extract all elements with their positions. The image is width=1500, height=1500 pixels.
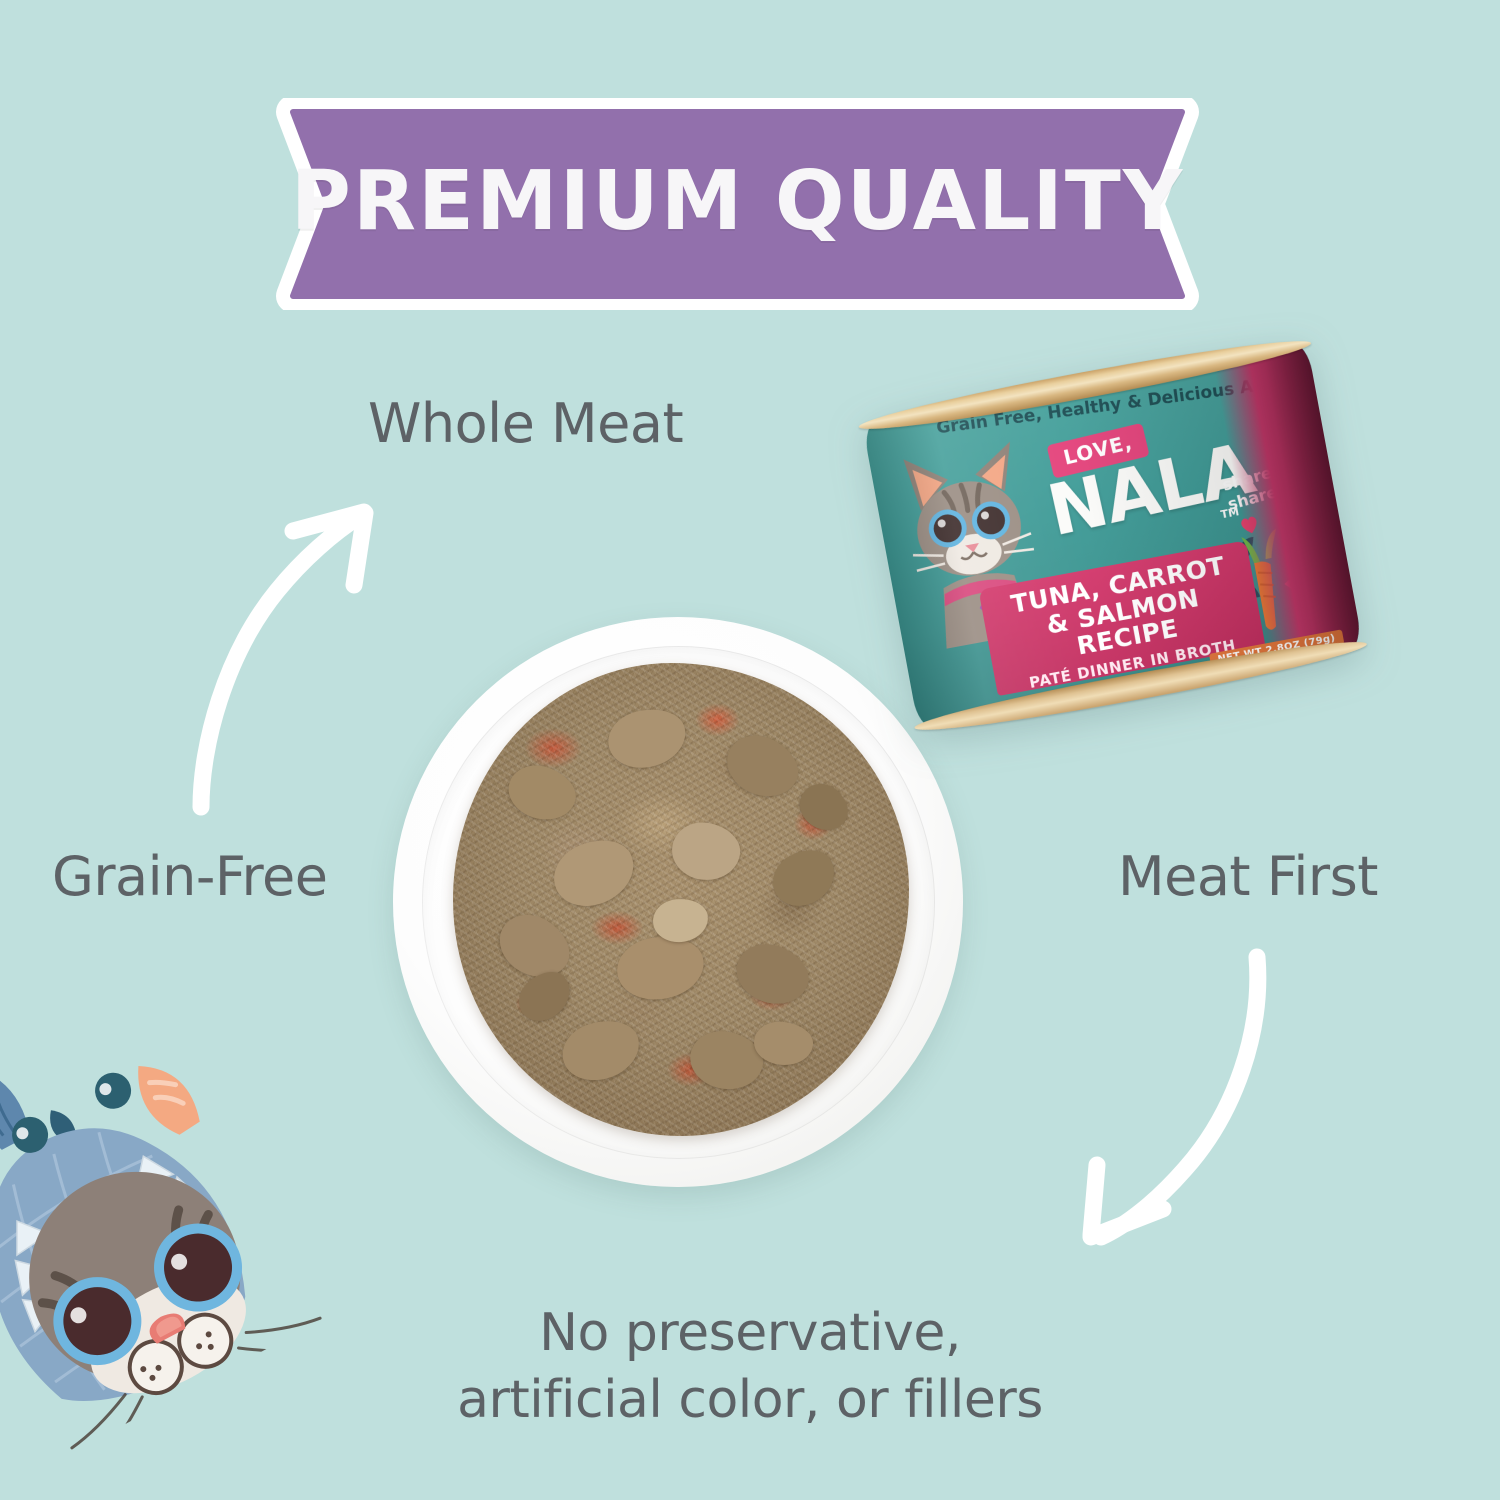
banner-title: PREMIUM QUALITY [275,98,1200,310]
food-plate [393,617,963,1187]
food-chunks [453,663,909,1136]
no-preservative-line-2: artificial color, or fillers [0,1367,1500,1434]
premium-quality-banner: PREMIUM QUALITY [275,98,1200,310]
curved-arrow-up-right-icon [165,495,415,825]
food-texture [453,663,909,1136]
feature-label-meat-first: Meat First [1118,845,1378,908]
feature-label-whole-meat: Whole Meat [368,392,683,455]
curved-arrow-down-left-icon [1045,935,1305,1265]
poster-canvas: PREMIUM QUALITY Whole Meat Grain-Free Me… [0,0,1500,1500]
pate-food [453,663,909,1136]
feature-label-grain-free: Grain-Free [52,845,327,908]
can-label: Grain Free, Healthy & Delicious Adult Ca… [862,342,1363,729]
product-can[interactable]: Grain Free, Healthy & Delicious Adult Ca… [836,310,1397,775]
